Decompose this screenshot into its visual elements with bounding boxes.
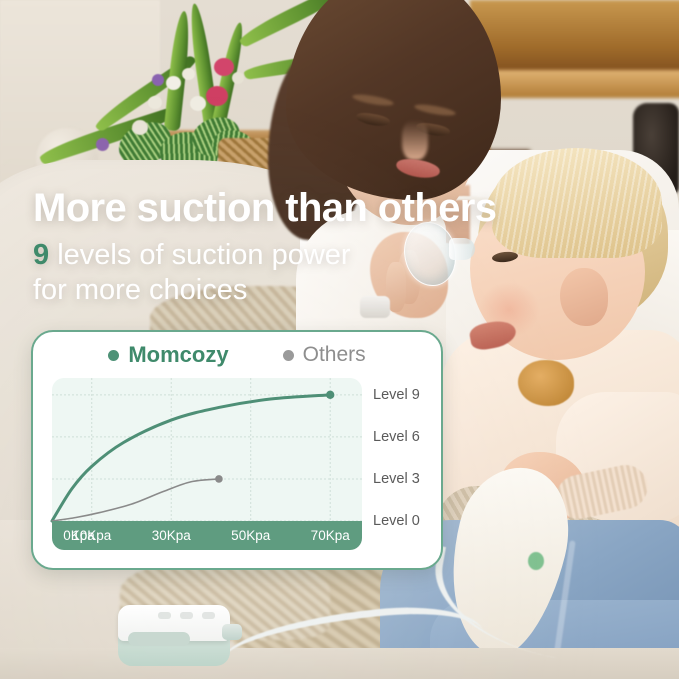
baby-ear: [560, 268, 608, 326]
legend-label-momcozy: Momcozy: [128, 342, 228, 368]
aspirator-button-1: [158, 612, 171, 619]
aspirator-panel: [128, 632, 190, 646]
chart-plot-area: [52, 378, 362, 521]
y-axis-tick-level-0: Level 0: [373, 513, 420, 529]
chart-legend: Momcozy Others: [33, 342, 441, 368]
legend-dot-others-icon: [283, 350, 294, 361]
subtitle-line2: for more choices: [33, 274, 247, 306]
baby-hair: [492, 148, 662, 258]
aspirator-tube-port: [222, 624, 242, 640]
y-axis-tick-level-3: Level 3: [373, 471, 420, 487]
chart-y-axis-labels: Level 0Level 3Level 6Level 9: [373, 378, 443, 521]
mother-wrist-band: [360, 296, 390, 318]
product-marketing-image: More suction than others 9 levels of suc…: [0, 0, 679, 679]
x-axis-tick-30: 30Kpa: [152, 528, 191, 543]
subtitle-accent-number: 9: [33, 239, 49, 271]
subtitle: 9 levels of suction power for more choic…: [33, 238, 351, 309]
legend-dot-momcozy-icon: [108, 350, 119, 361]
nasal-tip-nozzle: [449, 238, 475, 260]
y-axis-tick-level-9: Level 9: [373, 387, 420, 403]
y-axis-tick-level-6: Level 6: [373, 429, 420, 445]
chart-x-axis-band: 0Kpa10Kpa30Kpa50Kpa70Kpa: [52, 521, 362, 550]
legend-item-momcozy: Momcozy: [108, 342, 228, 368]
baby-toy: [518, 360, 574, 406]
suction-comparison-card: Momcozy Others 0Kpa10Kpa30Kpa50Kpa70Kpa …: [31, 330, 443, 570]
subtitle-line1-rest: levels of suction power: [49, 239, 350, 271]
legend-item-others: Others: [283, 343, 366, 367]
page-title: More suction than others: [33, 186, 496, 231]
mother-nose: [402, 120, 428, 160]
x-axis-tick-10: 10Kpa: [72, 528, 111, 543]
aspirator-button-2: [180, 612, 193, 619]
chart-series-lines: [52, 378, 362, 521]
right-shelf-edge: [470, 70, 679, 98]
x-axis-tick-50: 50Kpa: [231, 528, 270, 543]
right-shelf: [470, 0, 679, 78]
x-axis-tick-70: 70Kpa: [311, 528, 350, 543]
aspirator-button-3: [202, 612, 215, 619]
legend-label-others: Others: [303, 343, 366, 367]
